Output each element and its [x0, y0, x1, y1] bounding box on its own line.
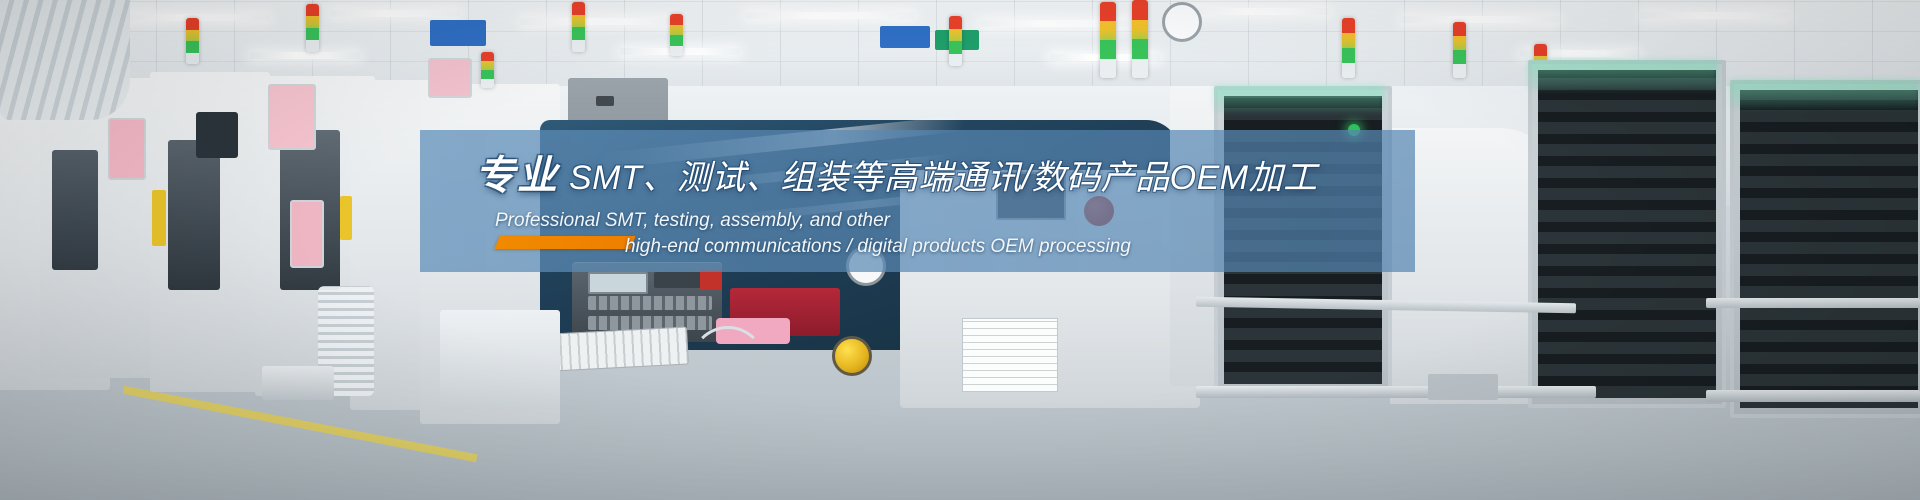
headline-keyword: 专业 [475, 154, 559, 198]
orange-accent-bar [494, 236, 635, 249]
headline-remainder: SMT、测试、组装等高端通讯/数码产品OEM加工 [569, 159, 1318, 197]
hero-banner: 专业 SMT、测试、组装等高端通讯/数码产品OEM加工 Professional… [0, 0, 1920, 500]
banner-subtitle-line-1: Professional SMT, testing, assembly, and… [495, 208, 890, 234]
banner-headline: 专业 SMT、测试、组装等高端通讯/数码产品OEM加工 [475, 156, 1318, 196]
banner-text-overlay: 专业 SMT、测试、组装等高端通讯/数码产品OEM加工 Professional… [420, 130, 1415, 272]
banner-subtitle-line-2: high-end communications / digital produc… [625, 234, 1131, 260]
